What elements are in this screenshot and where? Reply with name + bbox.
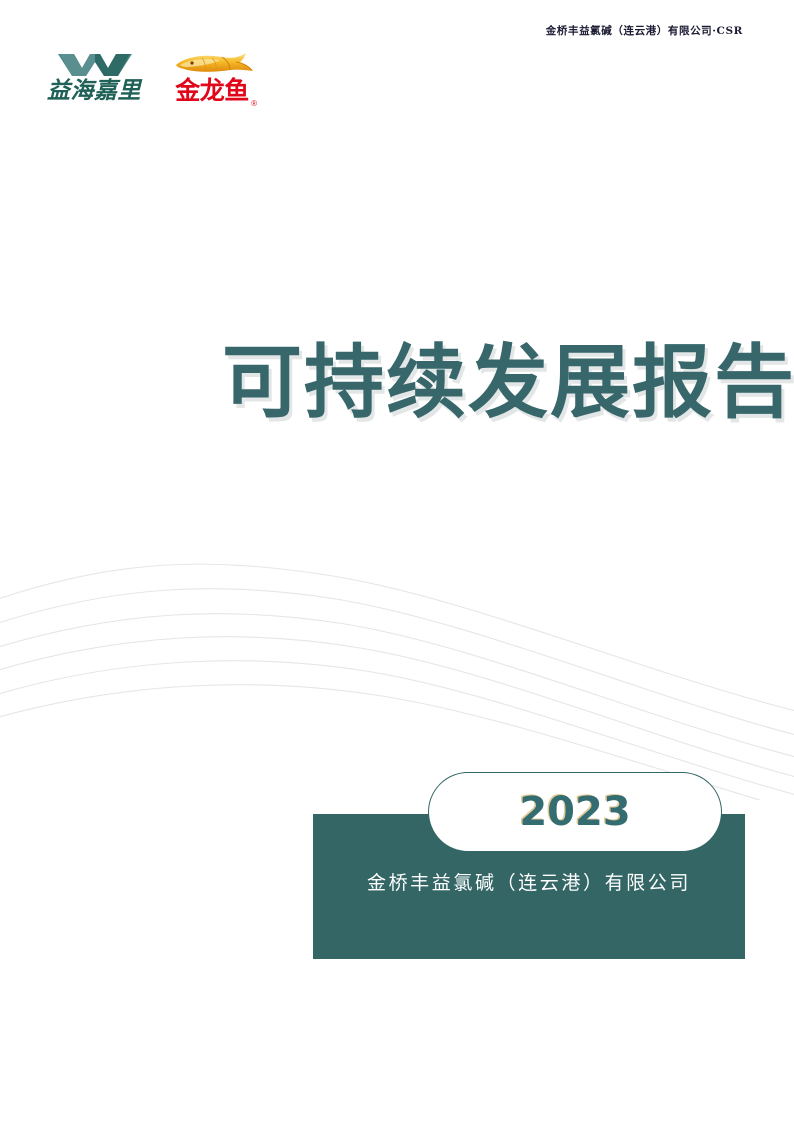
wave-lines-decoration (0, 540, 794, 800)
header-company-csr-line: 金桥丰益氯碱（连云港）有限公司·CSR (546, 24, 743, 38)
yihai-kerry-logo: 益海嘉里 (40, 54, 148, 110)
jinlongyu-wordmark: 金龙鱼 (166, 76, 258, 106)
logo-block: 益海嘉里 金龙鱼 ® (40, 54, 258, 110)
year-label: 2023 (428, 772, 722, 852)
golden-fish-icon (172, 52, 254, 76)
jinlongyu-logo: 金龙鱼 ® (166, 54, 258, 110)
chevron-mark-icon (58, 54, 132, 76)
registered-trademark-icon: ® (251, 99, 257, 108)
footer-company-name: 金桥丰益氯碱（连云港）有限公司 (313, 868, 745, 898)
report-cover-page: 金桥丰益氯碱（连云港）有限公司·CSR 益海嘉里 (0, 0, 794, 1123)
page-title: 可持续发展报告 (222, 337, 794, 429)
yihai-kerry-wordmark: 益海嘉里 (40, 76, 148, 106)
